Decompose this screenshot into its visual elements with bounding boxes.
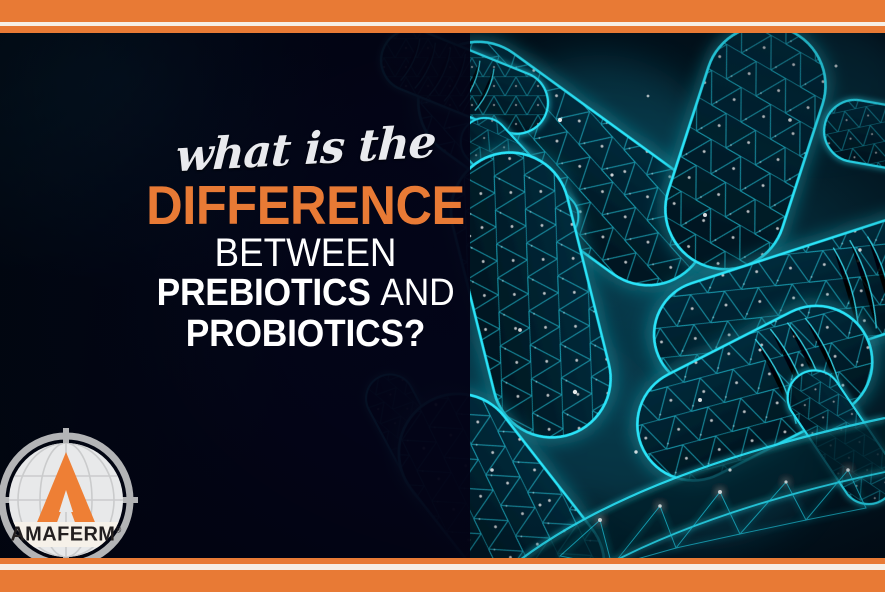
banner-canvas: what is the DIFFERENCE BETWEEN PREBIOTIC…: [0, 0, 885, 592]
logo-brand-text: AMAFERM®: [10, 524, 121, 546]
headline-prebiotics-and: PREBIOTICS AND: [131, 274, 480, 314]
bottom-bar-band: [0, 570, 885, 592]
top-bar-band: [0, 0, 885, 22]
headline-block: what is the DIFFERENCE BETWEEN PREBIOTIC…: [118, 128, 493, 355]
top-accent-bar: [0, 0, 885, 33]
headline-probiotics: PROBIOTICS?: [131, 315, 480, 355]
headline-difference: DIFFERENCE: [133, 180, 478, 232]
top-bar-band-lower: [0, 26, 885, 33]
headline-prebiotics: PREBIOTICS: [157, 272, 371, 314]
headline-and: AND: [380, 272, 454, 314]
headline-between: BETWEEN: [133, 233, 478, 274]
amaferm-logo[interactable]: AMAFERM®: [0, 426, 140, 574]
bottom-accent-bar: [0, 558, 885, 592]
